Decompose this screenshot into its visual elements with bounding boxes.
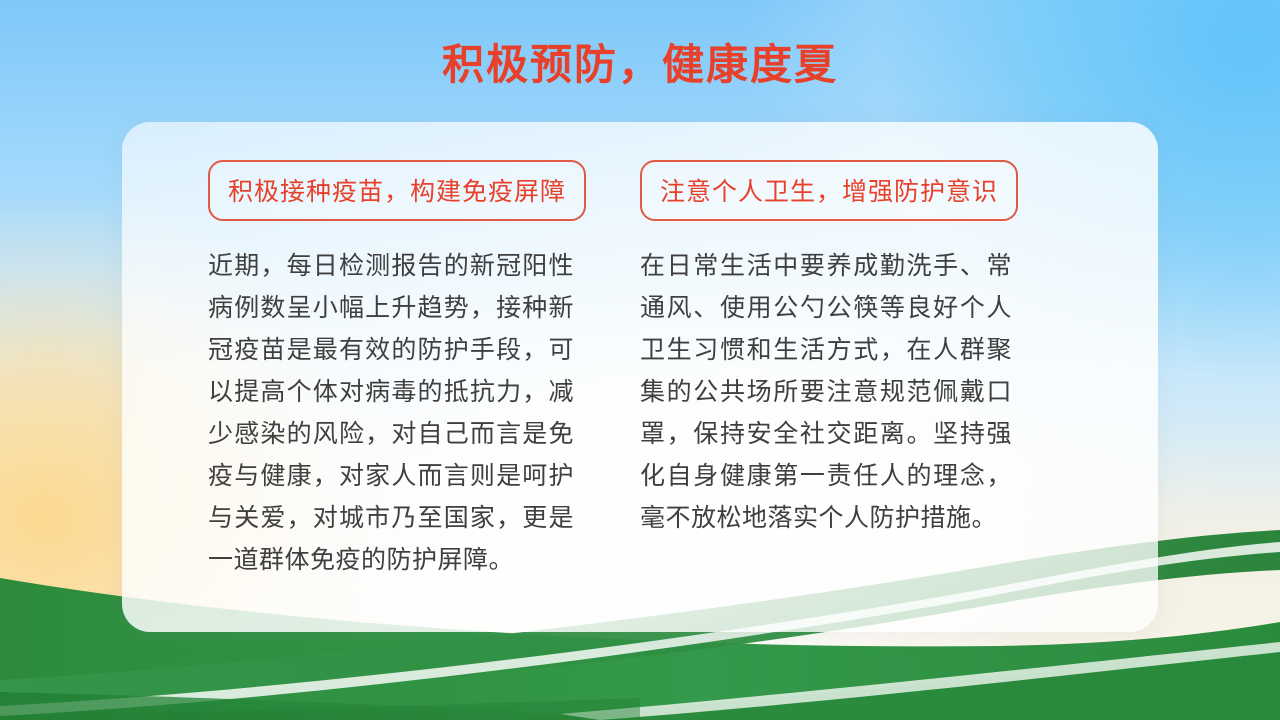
content-columns: 积极接种疫苗，构建免疫屏障 近期，每日检测报告的新冠阳性病例数呈小幅上升趋势，接…: [122, 122, 1158, 632]
column-heading-vaccination: 积极接种疫苗，构建免疫屏障: [208, 160, 586, 221]
slide-canvas: 积极预防，健康度夏 积极接种疫苗，构建免疫屏障 近期，每日检测报告的新冠阳性病例…: [0, 0, 1280, 720]
column-paragraph-hygiene: 在日常生活中要养成勤洗手、常通风、使用公勺公筷等良好个人卫生习惯和生活方式，在人…: [640, 245, 1012, 539]
column-heading-hygiene: 注意个人卫生，增强防护意识: [640, 160, 1018, 221]
column-vaccination: 积极接种疫苗，构建免疫屏障 近期，每日检测报告的新冠阳性病例数呈小幅上升趋势，接…: [208, 122, 640, 632]
page-title: 积极预防，健康度夏: [0, 40, 1280, 90]
column-paragraph-vaccination: 近期，每日检测报告的新冠阳性病例数呈小幅上升趋势，接种新冠疫苗是最有效的防护手段…: [208, 245, 574, 581]
column-hygiene: 注意个人卫生，增强防护意识 在日常生活中要养成勤洗手、常通风、使用公勺公筷等良好…: [640, 122, 1072, 632]
